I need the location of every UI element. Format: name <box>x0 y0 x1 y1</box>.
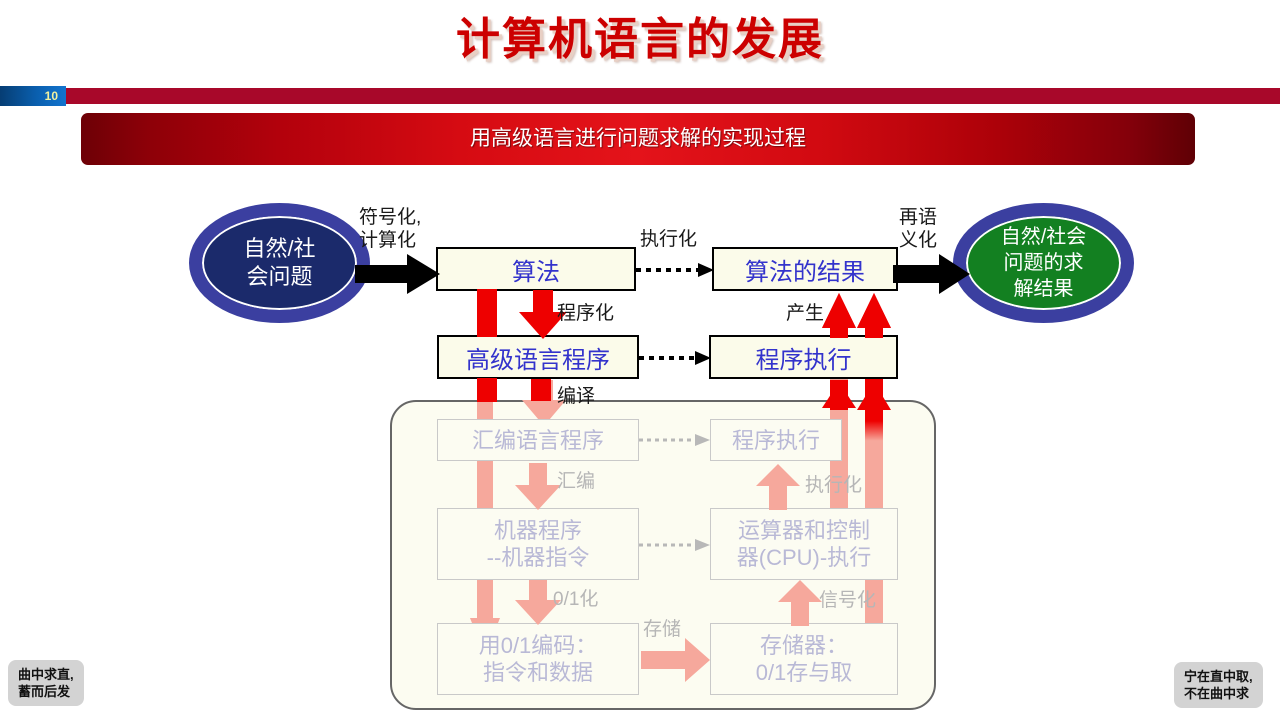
node-storage: 存储器： 0/1存与取 <box>710 623 898 695</box>
circle-left-label: 自然/社 会问题 <box>231 235 327 291</box>
header-rule <box>0 88 1280 104</box>
node-storage-label: 存储器： 0/1存与取 <box>756 632 853 686</box>
edge-label-assemble: 汇编 <box>557 470 595 493</box>
node-program-execution: 程序执行 <box>709 335 898 379</box>
node-assembly-program-label: 汇编语言程序 <box>472 427 604 454</box>
node-machine-program-label: 机器程序 --机器指令 <box>487 517 590 571</box>
slide-canvas: 计算机语言的发展 10 用高级语言进行问题求解的实现过程 <box>0 0 1280 720</box>
node-algorithm-result-label: 算法的结果 <box>745 252 865 287</box>
edge-label-programize: 程序化 <box>557 302 614 325</box>
node-cpu-execution-label: 运算器和控制 器(CPU)-执行 <box>737 517 871 571</box>
red-up-stub-right <box>855 380 893 416</box>
node-high-level-program-label: 高级语言程序 <box>466 340 610 375</box>
circle-right-label: 自然/社会 问题的求 解结果 <box>995 224 1093 302</box>
page-title: 计算机语言的发展 <box>0 8 1280 76</box>
node-assembly-program: 汇编语言程序 <box>437 419 639 461</box>
edge-label-store: 存储 <box>643 618 681 641</box>
red-up-arrowhead-produce-left <box>820 292 858 338</box>
red-up-arrowhead-exec-inner <box>820 380 858 410</box>
black-right-arrow-symbolize <box>355 252 441 296</box>
black-right-arrow-resemantize <box>893 252 971 296</box>
page-number-badge: 10 <box>0 86 66 106</box>
red-up-arrowhead-produce-right <box>855 292 893 338</box>
edge-label-binarize: 0/1化 <box>553 588 598 611</box>
node-algorithm: 算法 <box>436 247 636 291</box>
edge-label-executionize2: 执行化 <box>805 474 862 497</box>
node-program-execution-2: 程序执行 <box>710 419 842 461</box>
dotted-right-arrow-asm-to-exec2 <box>639 430 713 450</box>
node-program-execution-2-label: 程序执行 <box>732 427 820 454</box>
red-stub-down-hll <box>477 378 497 402</box>
pink-up-arrow-executionize2 <box>756 464 800 510</box>
edge-label-compile: 编译 <box>557 385 595 408</box>
badge-bottom-left: 曲中求直, 蓄而后发 <box>8 660 84 706</box>
pink-right-arrow-store <box>641 638 711 682</box>
node-binary-encoding: 用0/1编码： 指令和数据 <box>437 623 639 695</box>
node-binary-encoding-label: 用0/1编码： 指令和数据 <box>479 632 598 686</box>
node-machine-program: 机器程序 --机器指令 <box>437 508 639 580</box>
badge-bottom-right: 宁在直中取, 不在曲中求 <box>1174 662 1263 708</box>
node-high-level-program: 高级语言程序 <box>437 335 639 379</box>
dotted-right-arrow-hll-to-exec <box>639 346 713 370</box>
pink-up-arrow-signalize <box>778 580 822 626</box>
dotted-right-arrow-machine-to-cpu <box>639 535 713 555</box>
node-algorithm-label: 算法 <box>512 252 560 287</box>
edge-label-resemantize: 再语 义化 <box>899 206 937 252</box>
red-stub-down-compile <box>531 379 551 401</box>
edge-label-signalize: 信号化 <box>819 589 876 612</box>
node-program-execution-label: 程序执行 <box>756 340 852 375</box>
subtitle-banner: 用高级语言进行问题求解的实现过程 <box>81 113 1195 165</box>
pink-down-arrow-assemble <box>515 463 561 511</box>
node-natural-social-problem: 自然/社 会问题 <box>189 203 370 323</box>
node-solution-result: 自然/社会 问题的求 解结果 <box>953 203 1134 323</box>
dotted-right-arrow-executionize <box>636 258 716 282</box>
node-algorithm-result: 算法的结果 <box>712 247 898 291</box>
node-cpu-execution: 运算器和控制 器(CPU)-执行 <box>710 508 898 580</box>
edge-label-executionize: 执行化 <box>640 228 697 251</box>
red-stub-down-algorithm <box>477 289 497 337</box>
edge-label-symbolize: 符号化, 计算化 <box>359 206 421 252</box>
edge-label-produce: 产生 <box>786 302 824 325</box>
